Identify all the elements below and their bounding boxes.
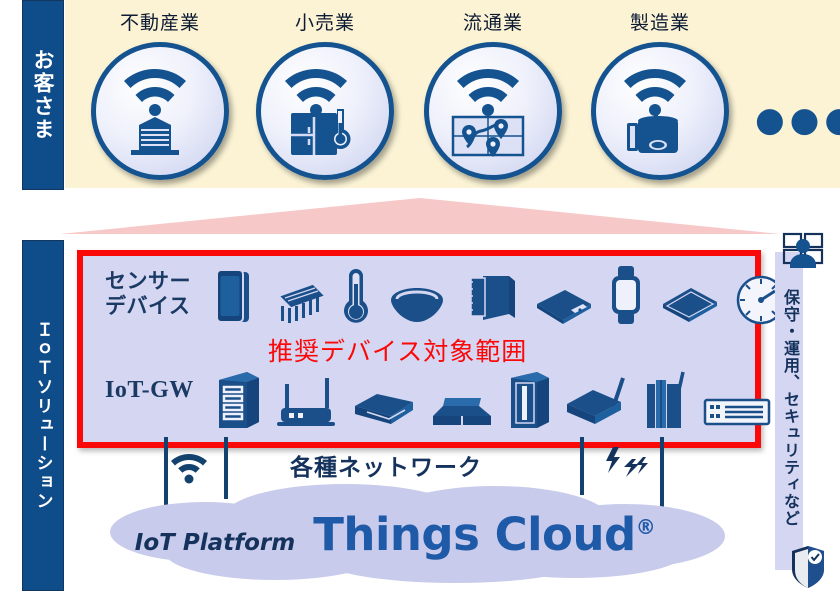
registered-trademark-symbol: ® — [636, 515, 656, 539]
gateway-box-icon[interactable] — [351, 390, 417, 430]
things-cloud-label: Things Cloud® — [313, 508, 655, 561]
tablet-device-icon[interactable] — [215, 268, 251, 326]
sensor-module-icon[interactable] — [463, 270, 515, 326]
support-person-icon — [782, 232, 826, 270]
recommended-device-box: センサー デバイス — [77, 250, 761, 448]
antenna-gateway-icon[interactable] — [563, 372, 629, 430]
cabinet-gateway-icon[interactable] — [507, 370, 551, 430]
industry-label: 小売業 — [250, 8, 400, 38]
industry-label: 製造業 — [585, 8, 735, 38]
sensor-pad-icon[interactable] — [659, 284, 719, 326]
sensor-device-row-label-line1: センサー — [105, 269, 191, 294]
recommended-device-scope-text: 推奨デバイス対象範囲 — [268, 332, 527, 368]
things-cloud-text: Things Cloud — [313, 508, 635, 561]
wifi-building-icon — [96, 47, 214, 165]
industry-circle — [424, 42, 562, 180]
thermometer-icon[interactable] — [341, 266, 371, 326]
industry-label: 流通業 — [418, 8, 568, 38]
rack-switch-icon[interactable] — [703, 394, 771, 430]
cloud-label-group: IoT Platform Things Cloud® — [85, 508, 705, 561]
network-label: 各種ネットワーク — [290, 448, 482, 482]
sensor-device-row-label-line2: デバイス — [105, 294, 191, 319]
iot-platform-label: IoT Platform — [135, 530, 295, 556]
customer-sidebar-label: お客さま — [28, 49, 58, 141]
sensor-device-row-label: センサー デバイス — [105, 269, 191, 319]
iot-solution-sidebar: ＩｏＴソリューション — [22, 240, 64, 591]
sensor-chip-icon[interactable] — [267, 276, 325, 326]
customer-sidebar: お客さま — [22, 0, 64, 190]
wifi-refrigerator-thermometer-icon — [261, 47, 379, 165]
smartwatch-icon[interactable] — [609, 264, 643, 326]
server-tower-icon[interactable] — [215, 370, 261, 430]
industrial-gateway-icon[interactable] — [641, 370, 691, 430]
industry-circle — [256, 42, 394, 180]
industry-real-estate[interactable]: 不動産業 — [85, 8, 235, 180]
industry-retail[interactable]: 小売業 — [250, 8, 400, 180]
sensor-device-icon-row — [215, 264, 787, 326]
wifi-factory-tank-icon — [596, 47, 714, 165]
dome-sensor-icon[interactable] — [387, 286, 447, 326]
gateway-device-icon-row — [215, 368, 807, 430]
industry-manufacturing[interactable]: 製造業 — [585, 8, 735, 180]
industry-circle — [91, 42, 229, 180]
industry-label: 不動産業 — [85, 8, 235, 38]
gateway-row-label: IoT-GW — [105, 378, 194, 403]
wifi-router-icon[interactable] — [273, 372, 339, 430]
flow-arrow-up — [60, 196, 780, 238]
iot-solution-sidebar-label: ＩｏＴソリューション — [31, 321, 56, 511]
industry-circle — [591, 42, 729, 180]
industry-distribution[interactable]: 流通業 — [418, 8, 568, 180]
security-shield-icon — [790, 545, 826, 589]
network-hub-icon[interactable] — [429, 390, 495, 430]
flat-sensor-icon[interactable] — [531, 286, 593, 326]
maintenance-column-label: 保守・運用、セキュリティなど — [776, 258, 802, 558]
more-industries-ellipsis: ●●● — [755, 100, 825, 140]
wifi-map-pins-icon — [429, 47, 547, 165]
